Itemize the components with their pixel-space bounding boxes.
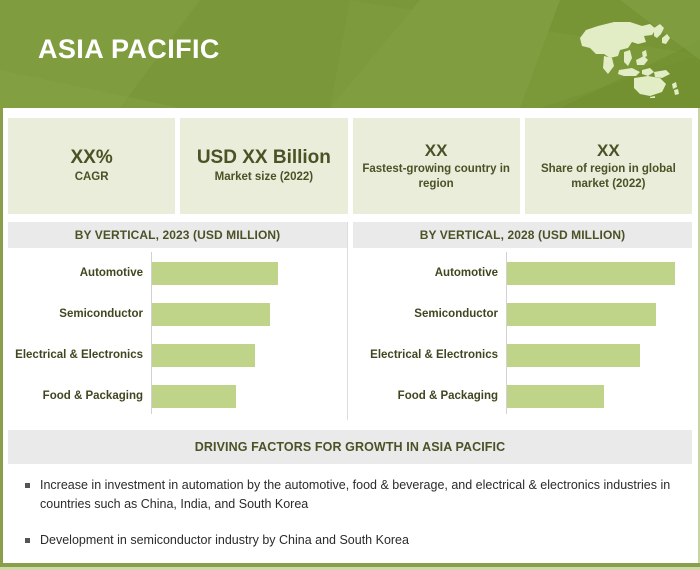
asia-pacific-map-icon	[562, 12, 682, 98]
bar-food-packaging-2023	[152, 385, 236, 408]
chart-bar-row: Automotive	[8, 256, 347, 291]
bar-track	[506, 297, 692, 332]
driving-factor-item: Increase in investment in automation by …	[18, 476, 682, 515]
stat-card-fastest-growing-country: XX Fastest-growing country in region	[353, 118, 520, 214]
charts-section: BY VERTICAL, 2023 (USD MILLION) Automoti…	[8, 222, 692, 420]
stat-label-share-of-region: Share of region in global market (2022)	[533, 162, 684, 191]
driving-factors-list: Increase in investment in automation by …	[8, 468, 692, 566]
bar-track	[506, 338, 692, 373]
chart-panel-2023: BY VERTICAL, 2023 (USD MILLION) Automoti…	[8, 222, 348, 420]
bar-semiconductor-2028	[507, 303, 656, 326]
stat-value-fastest-growing-country: XX	[425, 141, 448, 160]
asia-pacific-infographic: ASIA PACIFIC	[0, 0, 700, 570]
chart-panel-2028: BY VERTICAL, 2028 (USD MILLION) Automoti…	[353, 222, 692, 420]
driving-factor-text: Development in semiconductor industry by…	[40, 533, 409, 547]
driving-factors-heading: DRIVING FACTORS FOR GROWTH IN ASIA PACIF…	[8, 430, 692, 464]
chart-plot-area-2023: Automotive Semiconductor Electrical & El…	[8, 248, 347, 420]
chart-heading-2028: BY VERTICAL, 2028 (USD MILLION)	[353, 222, 692, 248]
bar-label-automotive-2028: Automotive	[353, 267, 506, 281]
bullet-square-icon	[25, 483, 30, 488]
bar-track	[151, 338, 347, 373]
bar-label-semiconductor-2023: Semiconductor	[8, 308, 151, 322]
chart-plot-area-2028: Automotive Semiconductor Electrical & El…	[353, 248, 692, 420]
bar-automotive-2028	[507, 262, 675, 285]
bar-automotive-2023	[152, 262, 278, 285]
stat-card-market-size: USD XX Billion Market size (2022)	[180, 118, 347, 214]
bar-track	[506, 256, 692, 291]
bar-track	[151, 297, 347, 332]
chart-bar-row: Food & Packaging	[353, 379, 692, 414]
bar-label-automotive-2023: Automotive	[8, 267, 151, 281]
key-stats-row: XX% CAGR USD XX Billion Market size (202…	[8, 118, 692, 214]
chart-bar-row: Electrical & Electronics	[353, 338, 692, 373]
bar-semiconductor-2023	[152, 303, 270, 326]
bar-label-electrical-electronics-2023: Electrical & Electronics	[8, 349, 151, 363]
frame-left-border	[0, 108, 3, 564]
header-banner: ASIA PACIFIC	[0, 0, 700, 108]
bar-label-semiconductor-2028: Semiconductor	[353, 308, 506, 322]
bar-label-food-packaging-2023: Food & Packaging	[8, 390, 151, 404]
bar-food-packaging-2028	[507, 385, 604, 408]
bar-label-electrical-electronics-2028: Electrical & Electronics	[353, 349, 506, 363]
stat-label-fastest-growing-country: Fastest-growing country in region	[361, 162, 512, 191]
chart-bar-row: Food & Packaging	[8, 379, 347, 414]
chart-bar-row: Semiconductor	[353, 297, 692, 332]
stat-label-cagr: CAGR	[75, 170, 109, 185]
chart-bar-row: Semiconductor	[8, 297, 347, 332]
bullet-square-icon	[25, 538, 30, 543]
stat-card-cagr: XX% CAGR	[8, 118, 175, 214]
driving-factor-item: Development in semiconductor industry by…	[18, 531, 682, 550]
stat-label-market-size: Market size (2022)	[215, 170, 313, 185]
driving-factor-text: Increase in investment in automation by …	[40, 478, 670, 511]
bar-track	[506, 379, 692, 414]
bar-electrical-electronics-2028	[507, 344, 640, 367]
bar-track	[151, 379, 347, 414]
page-title: ASIA PACIFIC	[38, 36, 220, 63]
stat-card-share-of-region: XX Share of region in global market (202…	[525, 118, 692, 214]
chart-bar-row: Automotive	[353, 256, 692, 291]
stat-value-share-of-region: XX	[597, 141, 620, 160]
stat-value-cagr: XX%	[71, 147, 113, 168]
bar-track	[151, 256, 347, 291]
bar-electrical-electronics-2023	[152, 344, 255, 367]
chart-heading-2023: BY VERTICAL, 2023 (USD MILLION)	[8, 222, 347, 248]
bar-label-food-packaging-2028: Food & Packaging	[353, 390, 506, 404]
chart-bar-row: Electrical & Electronics	[8, 338, 347, 373]
stat-value-market-size: USD XX Billion	[197, 147, 331, 168]
